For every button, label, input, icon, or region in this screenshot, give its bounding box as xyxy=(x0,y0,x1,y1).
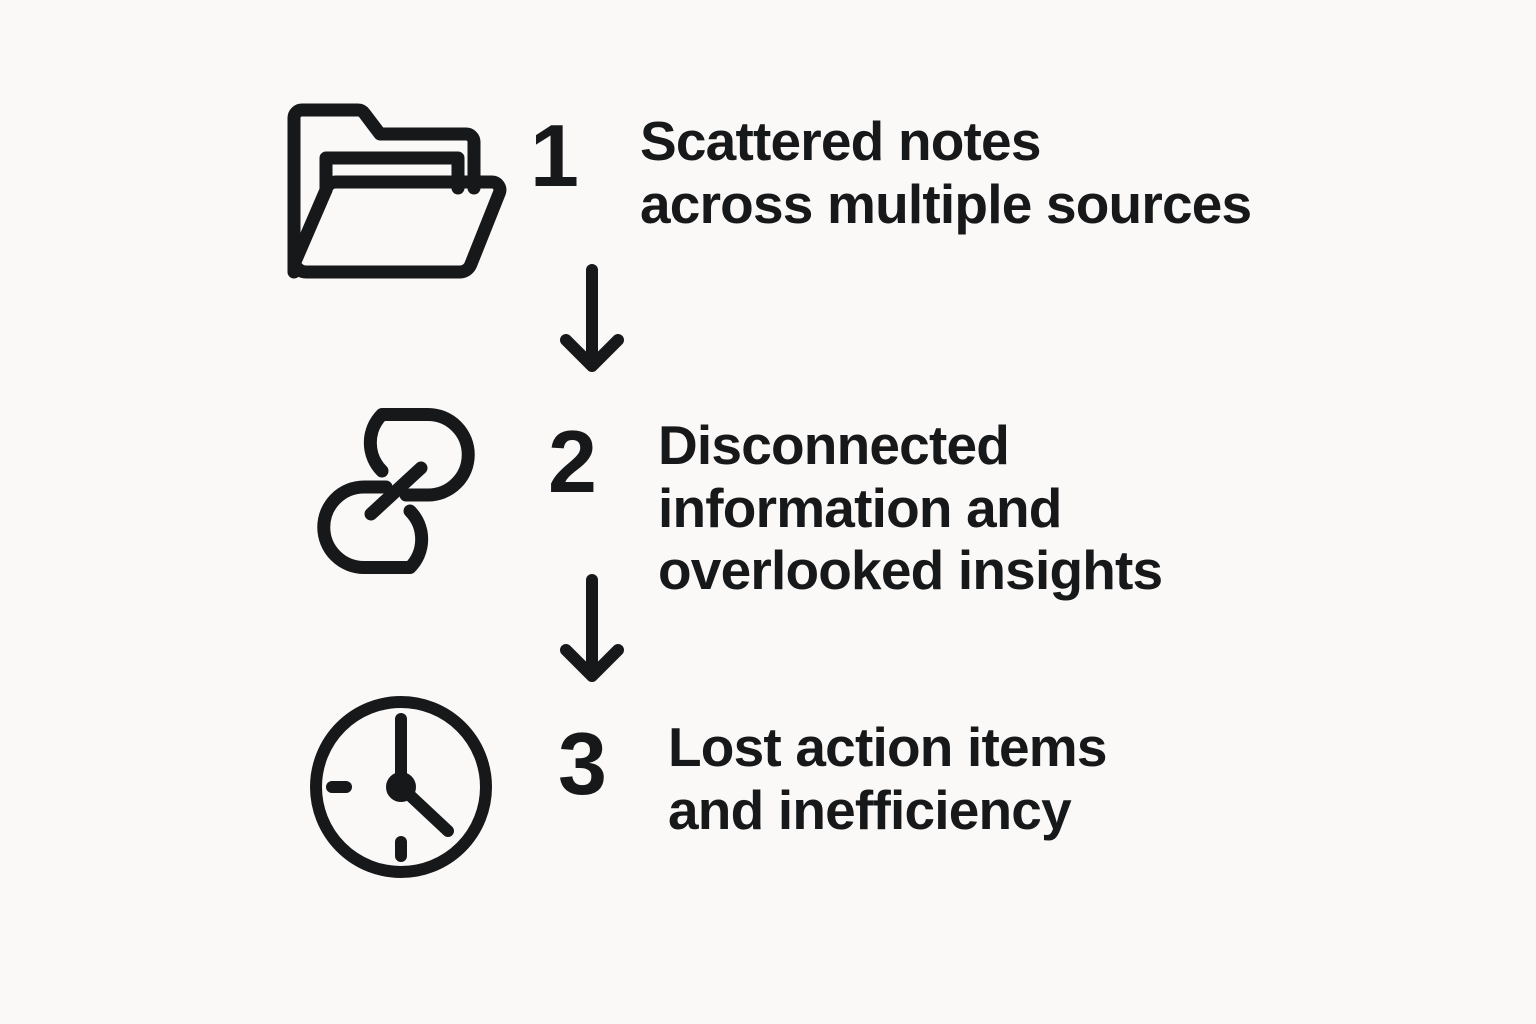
step-1-label: Scattered notes across multiple sources xyxy=(640,96,1251,235)
arrow-step-1-to-2 xyxy=(556,262,628,380)
diagram-canvas: 1 Scattered notes across multiple source… xyxy=(0,0,1536,1024)
step-2-label: Disconnected information and overlooked … xyxy=(658,396,1162,602)
step-2-icon-cell xyxy=(280,396,548,586)
step-row-3: 3 Lost action items and inefficiency xyxy=(280,692,1107,882)
step-3-icon-cell xyxy=(280,692,558,882)
step-row-2: 2 Disconnected information and overlooke… xyxy=(280,396,1162,602)
step-3-label: Lost action items and inefficiency xyxy=(668,692,1107,841)
arrow-step-2-to-3 xyxy=(556,572,628,690)
clock-icon xyxy=(308,694,494,880)
step-row-1: 1 Scattered notes across multiple source… xyxy=(280,96,1251,286)
step-3-number: 3 xyxy=(558,692,668,808)
step-1-number: 1 xyxy=(530,96,640,200)
step-1-icon-cell xyxy=(280,96,530,286)
folder-open-icon xyxy=(280,96,512,278)
chain-link-icon xyxy=(298,395,494,587)
step-2-number: 2 xyxy=(548,396,658,506)
